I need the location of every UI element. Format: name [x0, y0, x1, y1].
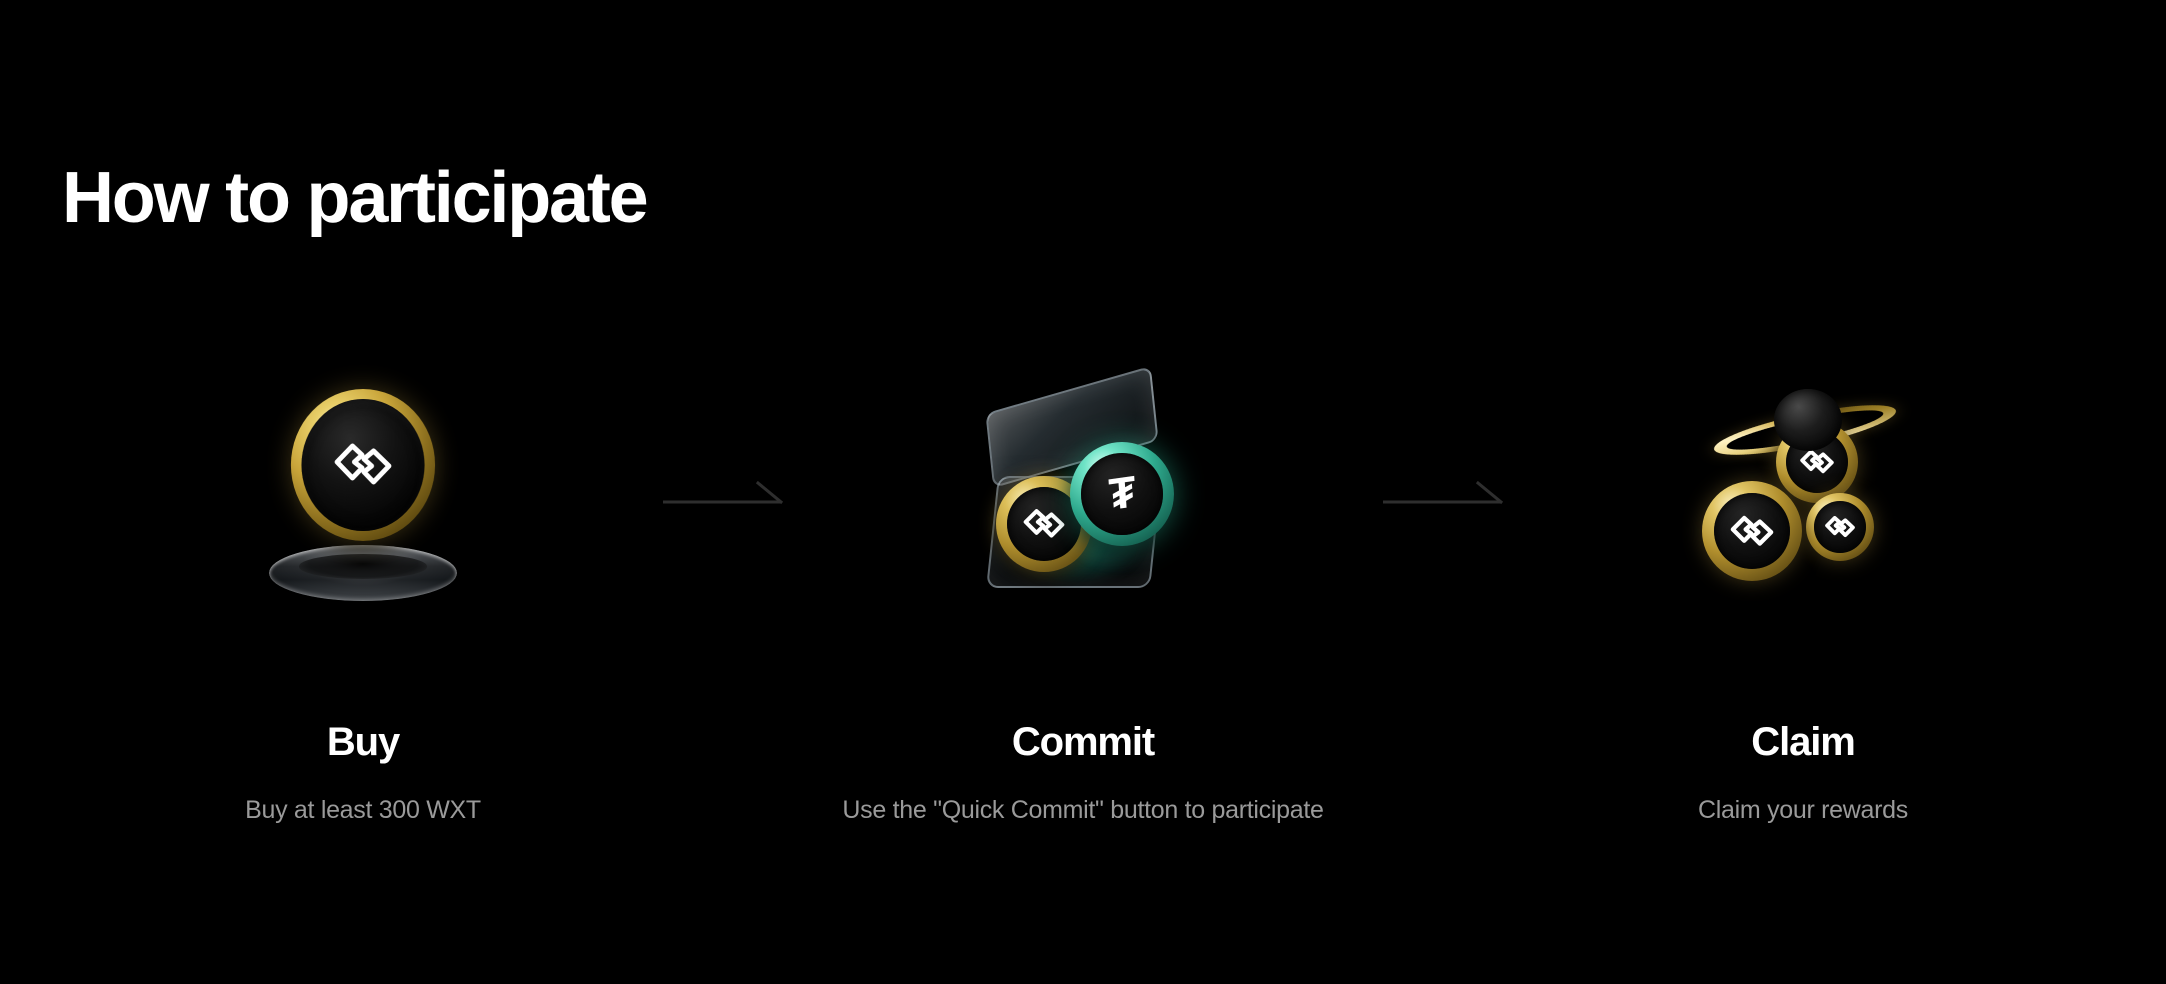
- step-buy-artwork: [213, 380, 513, 610]
- step-commit-title: Commit: [1012, 718, 1154, 766]
- step-commit-artwork: ₮: [933, 380, 1233, 610]
- step-buy: Buy Buy at least 300 WXT: [83, 380, 643, 826]
- arrow-commit-to-claim: [1363, 380, 1523, 610]
- step-claim-description: Claim your rewards: [1698, 794, 1908, 826]
- gold-ring-with-coins-illustration: [1678, 385, 1928, 605]
- how-to-participate-section: How to participate Buy: [0, 0, 2166, 984]
- wxt-coin-icon-small: [1806, 493, 1874, 561]
- wxt-coin-icon: [291, 389, 435, 541]
- glass-chest-illustration: ₮: [958, 380, 1208, 610]
- step-buy-description: Buy at least 300 WXT: [245, 794, 481, 826]
- arrow-buy-to-commit: [643, 380, 803, 610]
- wxt-coin-on-pedestal-illustration: [248, 385, 478, 605]
- steps-row: Buy Buy at least 300 WXT: [0, 380, 2166, 880]
- step-claim: Claim Claim your rewards: [1523, 380, 2083, 826]
- step-commit-description: Use the "Quick Commit" button to partici…: [842, 794, 1323, 826]
- dark-sphere-icon: [1774, 389, 1842, 451]
- step-claim-title: Claim: [1751, 718, 1854, 766]
- tether-teal-coin-icon: ₮: [1070, 442, 1174, 546]
- wxt-logo-icon: [333, 442, 393, 488]
- step-buy-title: Buy: [327, 718, 399, 766]
- page-title: How to participate: [62, 155, 646, 241]
- step-claim-artwork: [1653, 380, 1953, 610]
- glass-pedestal-icon: [269, 545, 457, 601]
- step-commit: ₮ Commit Use the "Quick Commit" button t…: [803, 380, 1363, 826]
- tether-symbol: ₮: [1107, 470, 1137, 518]
- wxt-coin-icon-left: [1702, 481, 1802, 581]
